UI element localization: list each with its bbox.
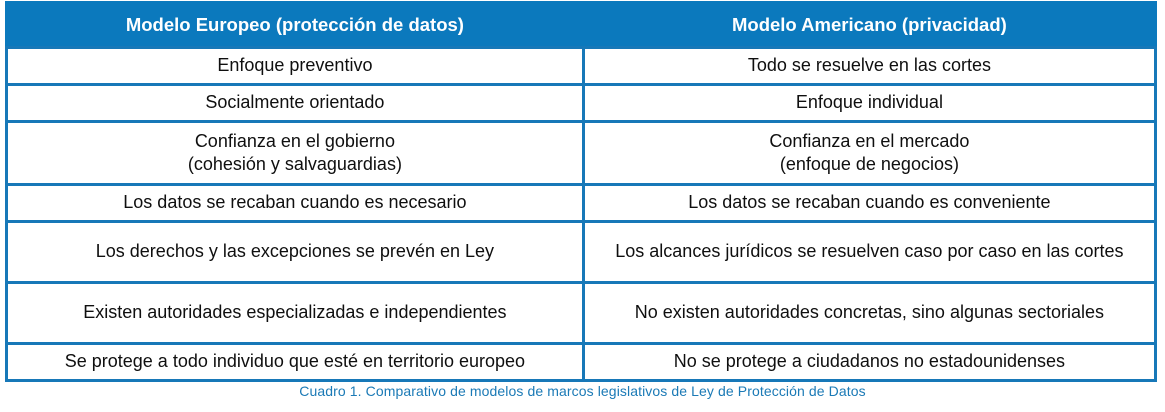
- cell-line: (cohesión y salvaguardias): [16, 153, 574, 176]
- table-row: Confianza en el gobierno (cohesión y sal…: [7, 122, 1156, 185]
- table-container: Modelo Europeo (protección de datos) Mod…: [5, 1, 1157, 382]
- cell-line: Confianza en el mercado: [593, 130, 1146, 153]
- table-row: Los datos se recaban cuando es necesario…: [7, 185, 1156, 222]
- table-body: Enfoque preventivo Todo se resuelve en l…: [7, 48, 1156, 381]
- comparison-table: Modelo Europeo (protección de datos) Mod…: [5, 1, 1157, 382]
- cell-line: No se protege a ciudadanos no estadounid…: [593, 350, 1146, 373]
- column-header-european-model: Modelo Europeo (protección de datos): [7, 3, 584, 48]
- cell-line: Existen autoridades especializadas e ind…: [16, 301, 574, 324]
- cell-european-3: Confianza en el gobierno (cohesión y sal…: [7, 122, 584, 185]
- cell-line: Los datos se recaban cuando es necesario: [16, 191, 574, 214]
- table-row: Existen autoridades especializadas e ind…: [7, 283, 1156, 344]
- cell-american-5: Los alcances jurídicos se resuelven caso…: [583, 222, 1155, 283]
- table-row: Socialmente orientado Enfoque individual: [7, 85, 1156, 122]
- cell-european-5: Los derechos y las excepciones se prevén…: [7, 222, 584, 283]
- cell-line: Confianza en el gobierno: [16, 130, 574, 153]
- cell-american-2: Enfoque individual: [583, 85, 1155, 122]
- comparison-table-figure: Modelo Europeo (protección de datos) Mod…: [0, 0, 1165, 412]
- cell-line: Los alcances jurídicos se resuelven caso…: [593, 240, 1146, 263]
- cell-line: Enfoque preventivo: [16, 54, 574, 77]
- header-row: Modelo Europeo (protección de datos) Mod…: [7, 3, 1156, 48]
- cell-european-1: Enfoque preventivo: [7, 48, 584, 85]
- cell-european-6: Existen autoridades especializadas e ind…: [7, 283, 584, 344]
- table-header: Modelo Europeo (protección de datos) Mod…: [7, 3, 1156, 48]
- cell-american-6: No existen autoridades concretas, sino a…: [583, 283, 1155, 344]
- cell-line: No existen autoridades concretas, sino a…: [593, 301, 1146, 324]
- cell-line: Enfoque individual: [593, 91, 1146, 114]
- table-row: Se protege a todo individuo que esté en …: [7, 344, 1156, 381]
- cell-american-3: Confianza en el mercado (enfoque de nego…: [583, 122, 1155, 185]
- cell-european-4: Los datos se recaban cuando es necesario: [7, 185, 584, 222]
- column-header-american-model: Modelo Americano (privacidad): [583, 3, 1155, 48]
- table-row: Enfoque preventivo Todo se resuelve en l…: [7, 48, 1156, 85]
- cell-european-7: Se protege a todo individuo que esté en …: [7, 344, 584, 381]
- cell-line: Socialmente orientado: [16, 91, 574, 114]
- cell-line: Todo se resuelve en las cortes: [593, 54, 1146, 77]
- cell-european-2: Socialmente orientado: [7, 85, 584, 122]
- table-row: Los derechos y las excepciones se prevén…: [7, 222, 1156, 283]
- cell-american-7: No se protege a ciudadanos no estadounid…: [583, 344, 1155, 381]
- cell-line: Se protege a todo individuo que esté en …: [16, 350, 574, 373]
- cell-line: (enfoque de negocios): [593, 153, 1146, 176]
- cell-american-4: Los datos se recaban cuando es convenien…: [583, 185, 1155, 222]
- cell-line: Los datos se recaban cuando es convenien…: [593, 191, 1146, 214]
- cell-american-1: Todo se resuelve en las cortes: [583, 48, 1155, 85]
- figure-caption: Cuadro 1. Comparativo de modelos de marc…: [0, 383, 1165, 399]
- cell-line: Los derechos y las excepciones se prevén…: [16, 240, 574, 263]
